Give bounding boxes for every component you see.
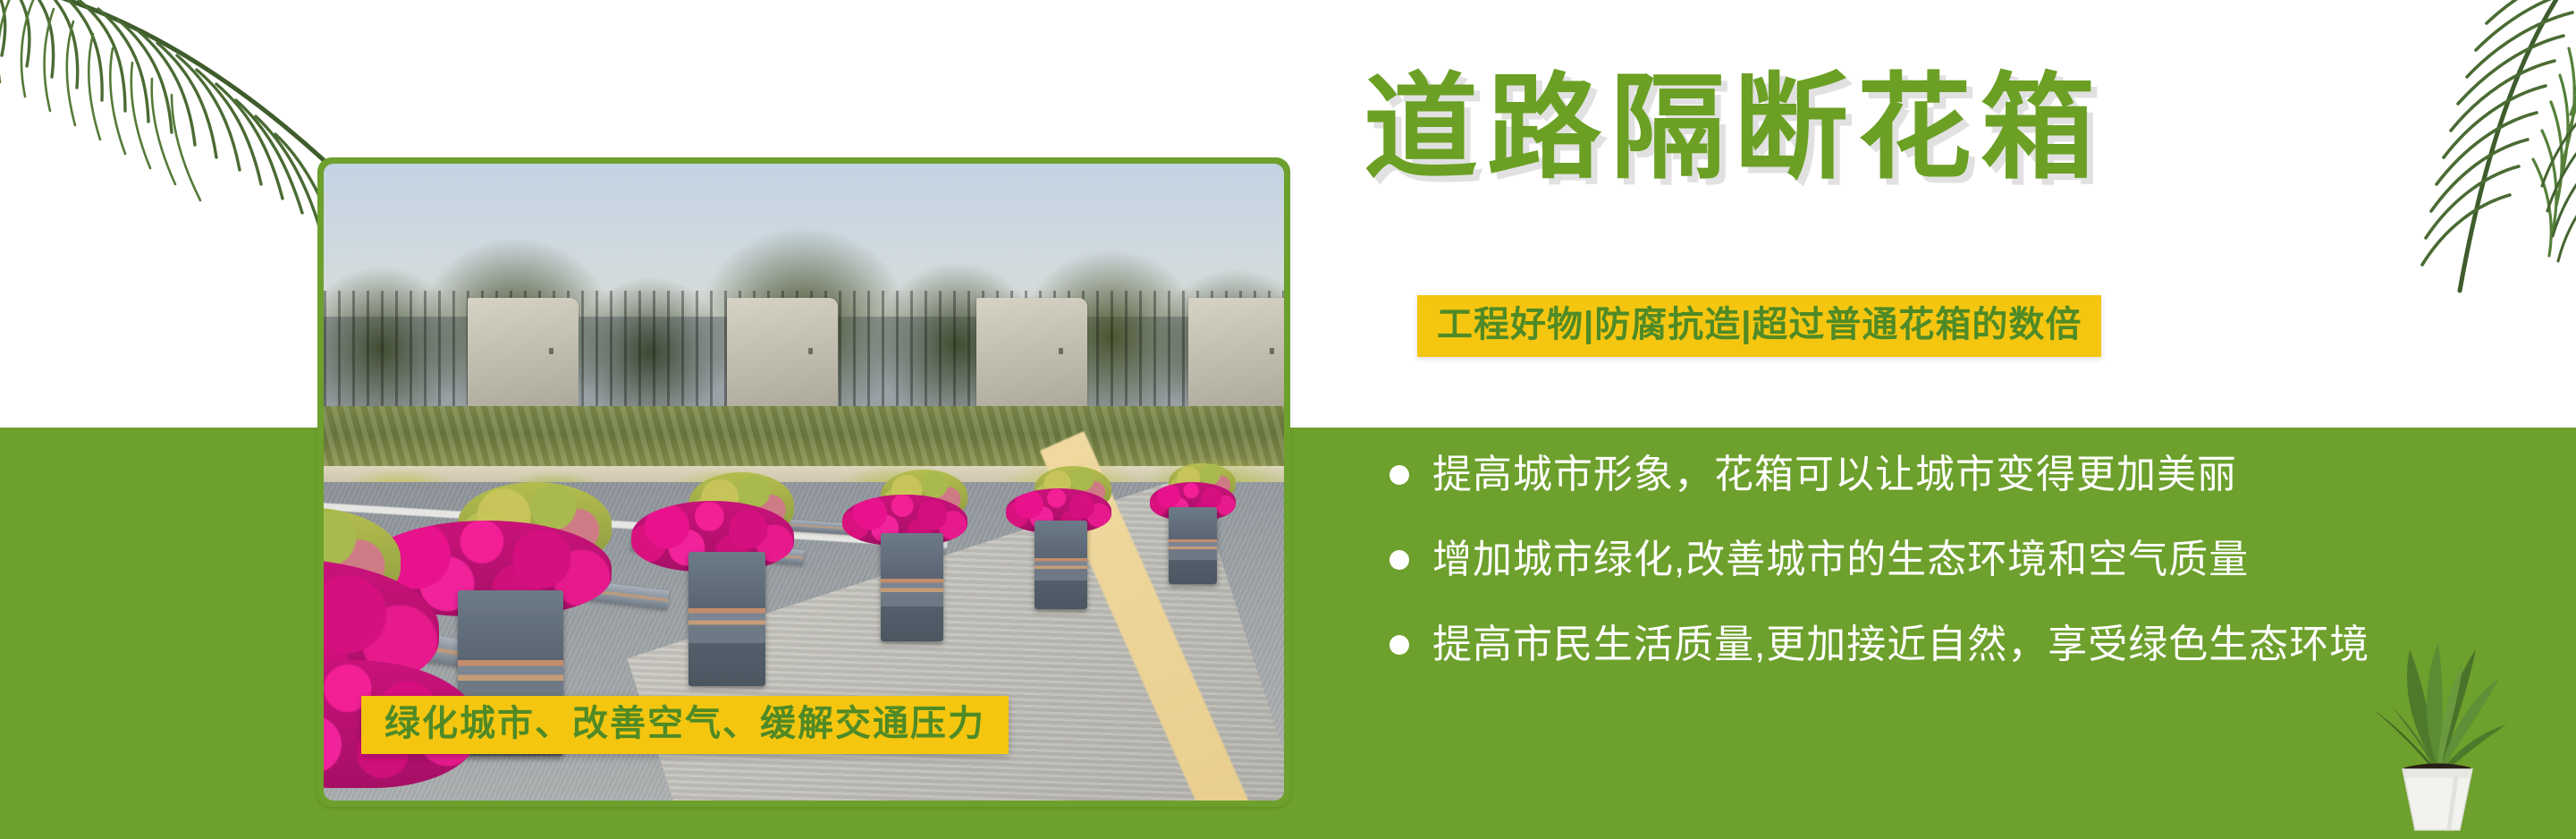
bullet-dot-icon bbox=[1389, 550, 1409, 570]
page-title: 道路隔断花箱 bbox=[1364, 72, 2104, 186]
list-item: 增加城市绿化,改善城市的生态环境和空气质量 bbox=[1377, 537, 2575, 583]
bullet-dot-icon bbox=[1389, 635, 1409, 655]
flower-box bbox=[688, 552, 765, 686]
wall-panel bbox=[1188, 298, 1284, 419]
palm-leaf-icon bbox=[0, 0, 349, 265]
product-banner: 绿化城市、改善空气、缓解交通压力 道路隔断花箱 工程好物|防腐抗造|超过普通花箱… bbox=[0, 0, 2576, 839]
photo-caption-text: 绿化城市、改善空气、缓解交通压力 bbox=[384, 704, 985, 743]
wall-panel bbox=[468, 298, 579, 419]
subtitle-badge: 工程好物|防腐抗造|超过普通花箱的数倍 bbox=[1417, 295, 2101, 357]
bullet-dot-icon bbox=[1389, 465, 1409, 485]
potted-plant-icon bbox=[2356, 610, 2517, 834]
flower-box bbox=[1169, 507, 1217, 583]
flower-box bbox=[881, 533, 943, 641]
photo-caption-badge: 绿化城市、改善空气、缓解交通压力 bbox=[361, 696, 1009, 754]
list-item-label: 提高城市形象，花箱可以让城市变得更加美丽 bbox=[1432, 453, 2237, 498]
list-item-label: 提高市民生活质量,更加接近自然，享受绿色生态环境 bbox=[1432, 623, 2369, 668]
subtitle-text: 工程好物|防腐抗造|超过普通花箱的数倍 bbox=[1437, 304, 2082, 345]
wall-panel bbox=[727, 298, 838, 419]
flower-box bbox=[1035, 521, 1087, 610]
list-item-label: 增加城市绿化,改善城市的生态环境和空气质量 bbox=[1432, 538, 2249, 583]
list-item: 提高城市形象，花箱可以让城市变得更加美丽 bbox=[1377, 452, 2575, 498]
wall-panel bbox=[976, 298, 1087, 419]
